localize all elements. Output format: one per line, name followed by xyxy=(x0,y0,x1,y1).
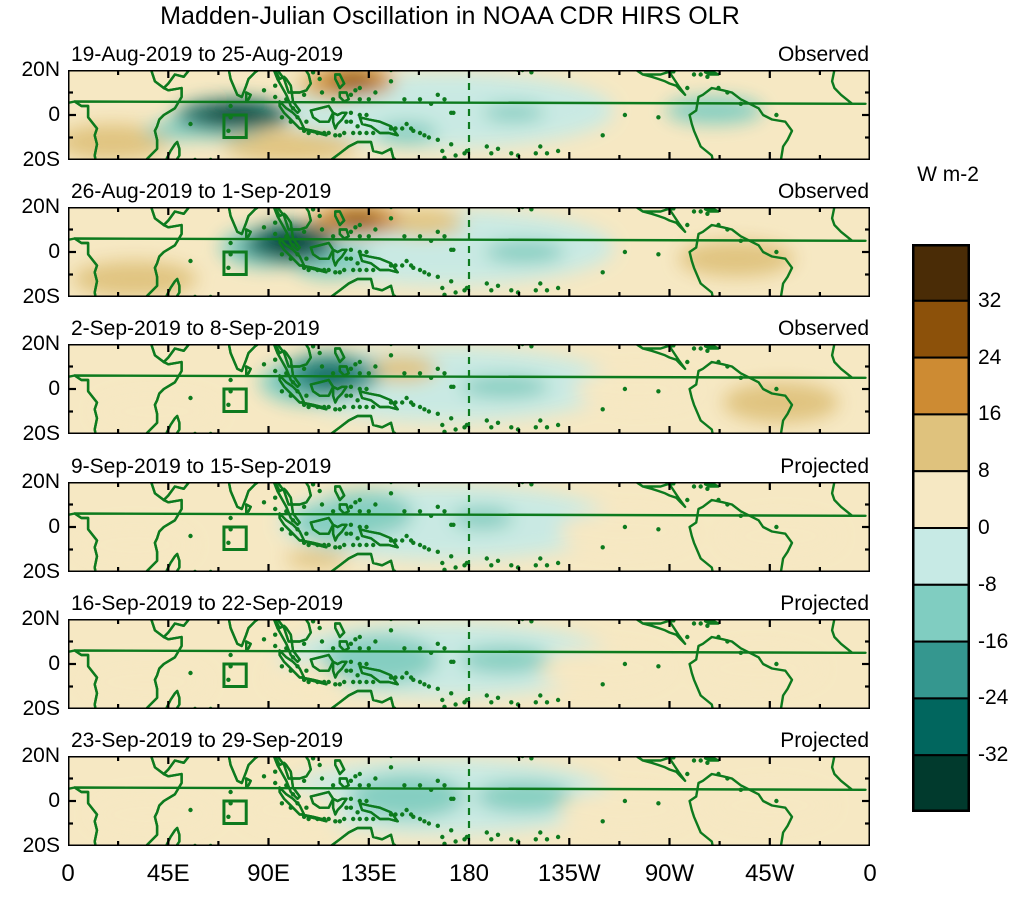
latitude-tick-20S: 20S xyxy=(23,560,60,584)
latitude-tick-0: 0 xyxy=(48,240,60,264)
latitude-tick-0: 0 xyxy=(48,652,60,676)
colorbar-tick-3: 8 xyxy=(978,459,990,483)
colorbar-tick-6: -16 xyxy=(978,630,1008,654)
longitude-axis: 045E90E135E180135W90W45W0 xyxy=(68,860,870,894)
panel-status-2: Observed xyxy=(778,180,869,204)
latitude-tick-0: 0 xyxy=(48,789,60,813)
latitude-tick-20S: 20S xyxy=(23,422,60,446)
map-panel-1: 19-Aug-2019 to 25-Aug-2019Observed20N020… xyxy=(68,70,870,160)
panel-date-range-6: 23-Sep-2019 to 29-Sep-2019 xyxy=(71,729,343,753)
colorbar-swatches xyxy=(912,244,1021,812)
latitude-tick-0: 0 xyxy=(48,377,60,401)
longitude-tick-0: 0 xyxy=(61,860,74,888)
figure-title: Madden-Julian Oscillation in NOAA CDR HI… xyxy=(0,2,900,31)
latitude-tick-0: 0 xyxy=(48,103,60,127)
latitude-tick-20N: 20N xyxy=(21,607,60,631)
colorbar-tick-8: -32 xyxy=(978,743,1008,767)
longitude-tick-6: 90W xyxy=(645,860,694,888)
latitude-tick-20N: 20N xyxy=(21,58,60,82)
latitude-tick-20N: 20N xyxy=(21,470,60,494)
panel-status-1: Observed xyxy=(778,43,869,67)
longitude-tick-5: 135W xyxy=(538,860,601,888)
colorbar: 32241680-8-16-24-32W m-2 xyxy=(912,244,1021,812)
colorbar-tick-1: 24 xyxy=(978,346,1001,370)
panel-status-4: Projected xyxy=(780,455,869,479)
latitude-tick-20S: 20S xyxy=(23,285,60,309)
colorbar-tick-0: 32 xyxy=(978,289,1001,313)
panel-date-range-2: 26-Aug-2019 to 1-Sep-2019 xyxy=(71,180,331,204)
panel-date-range-1: 19-Aug-2019 to 25-Aug-2019 xyxy=(71,43,343,67)
latitude-tick-20N: 20N xyxy=(21,195,60,219)
map-panel-4: 9-Sep-2019 to 15-Sep-2019Projected20N020… xyxy=(68,482,870,572)
map-panel-2: 26-Aug-2019 to 1-Sep-2019Observed20N020S xyxy=(68,207,870,297)
panel-date-range-4: 9-Sep-2019 to 15-Sep-2019 xyxy=(71,455,331,479)
latitude-tick-20N: 20N xyxy=(21,744,60,768)
colorbar-tick-4: 0 xyxy=(978,516,990,540)
panel-status-3: Observed xyxy=(778,317,869,341)
panel-status-6: Projected xyxy=(780,729,869,753)
panel-date-range-5: 16-Sep-2019 to 22-Sep-2019 xyxy=(71,592,343,616)
colorbar-tick-5: -8 xyxy=(978,573,997,597)
map-panel-6: 23-Sep-2019 to 29-Sep-2019Projected20N02… xyxy=(68,756,870,846)
latitude-tick-20S: 20S xyxy=(23,148,60,172)
longitude-tick-8: 0 xyxy=(863,860,876,888)
latitude-tick-0: 0 xyxy=(48,515,60,539)
longitude-tick-3: 135E xyxy=(341,860,397,888)
colorbar-tick-2: 16 xyxy=(978,402,1001,426)
latitude-tick-20S: 20S xyxy=(23,834,60,858)
longitude-tick-2: 90E xyxy=(247,860,290,888)
map-panel-5: 16-Sep-2019 to 22-Sep-2019Projected20N02… xyxy=(68,619,870,709)
panel-status-5: Projected xyxy=(780,592,869,616)
map-panel-3: 2-Sep-2019 to 8-Sep-2019Observed20N020S xyxy=(68,344,870,434)
panel-date-range-3: 2-Sep-2019 to 8-Sep-2019 xyxy=(71,317,320,341)
latitude-tick-20S: 20S xyxy=(23,697,60,721)
longitude-tick-1: 45E xyxy=(147,860,190,888)
longitude-tick-4: 180 xyxy=(449,860,489,888)
colorbar-units-label: W m-2 xyxy=(904,163,992,187)
longitude-tick-7: 45W xyxy=(745,860,794,888)
latitude-tick-20N: 20N xyxy=(21,332,60,356)
colorbar-tick-7: -24 xyxy=(978,686,1008,710)
